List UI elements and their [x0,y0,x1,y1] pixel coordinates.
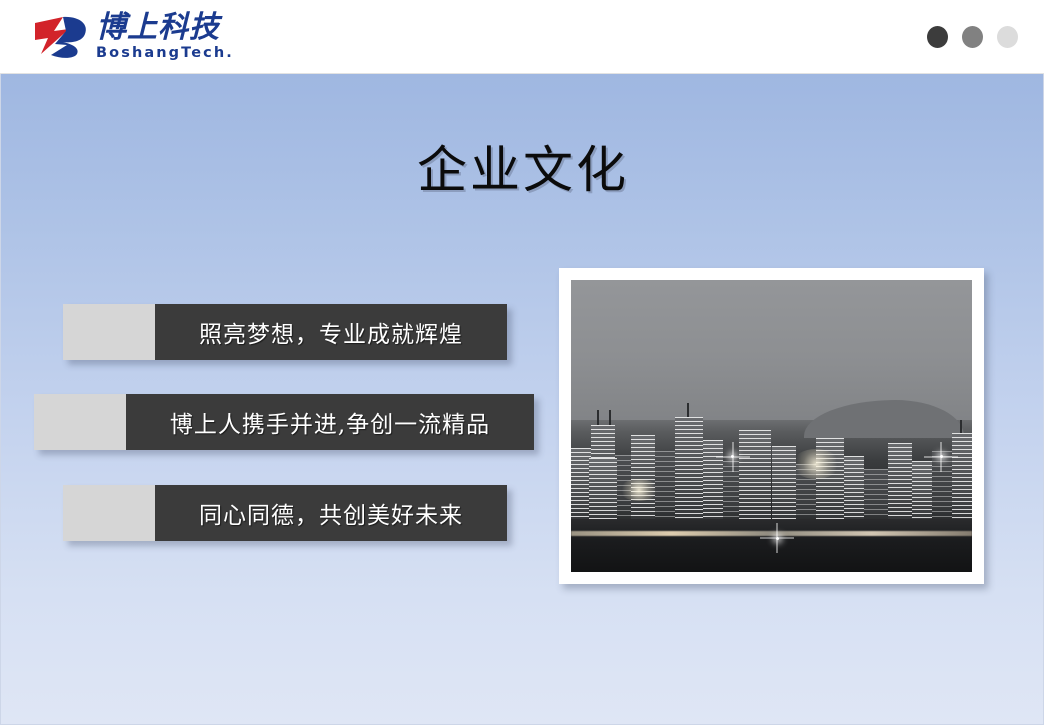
slogan-bar-2: 博上人携手并进,争创一流精品 [34,394,534,450]
slide-dot-2[interactable] [962,26,983,48]
photo-glow-1 [792,449,840,479]
slogan-body-3: 同心同德，共创美好未来 [155,485,507,541]
photo-skyline [571,397,972,525]
slogan-list: 照亮梦想，专业成就辉煌 博上人携手并进,争创一流精品 同心同德，共创美好未来 [1,74,561,725]
slogan-accent-block-2 [34,394,126,450]
slide-header: 博上科技 BoshangTech. [0,0,1044,74]
slogan-bar-3: 同心同德，共创美好未来 [63,485,507,541]
logo-chinese-name: 博上科技 [96,13,234,43]
slogan-text-1: 照亮梦想，专业成就辉煌 [199,315,463,349]
photo-frame [559,268,984,584]
slide-pagination-dots[interactable] [927,26,1018,48]
slide-body: 企业文化 照亮梦想，专业成就辉煌 博上人携手并进,争创一流精品 同心同德，共创美… [0,74,1044,725]
slide-dot-1[interactable] [927,26,948,48]
logo-wordmark: 博上科技 BoshangTech. [96,13,234,61]
slogan-body-1: 照亮梦想，专业成就辉煌 [155,304,507,360]
company-logo[interactable]: 博上科技 BoshangTech. [33,10,234,64]
slogan-accent-block-1 [63,304,155,360]
photo-road-lights [571,531,972,536]
presentation-slide: 博上科技 BoshangTech. 企业文化 照亮梦想，专业成就辉煌 [0,0,1044,725]
logo-english-name: BoshangTech. [96,46,234,61]
slogan-text-2: 博上人携手并进,争创一流精品 [170,405,490,439]
slide-dot-3[interactable] [997,26,1018,48]
slogan-text-3: 同心同德，共创美好未来 [199,496,463,530]
photo-ground [571,519,972,572]
city-night-skyline-photo [571,280,972,572]
photo-glow-2 [619,479,659,501]
slogan-bar-1: 照亮梦想，专业成就辉煌 [63,304,507,360]
slogan-body-2: 博上人携手并进,争创一流精品 [126,394,534,450]
photo-starburst-2 [776,537,779,540]
slogan-accent-block-3 [63,485,155,541]
boshang-b-mark-icon [33,14,91,60]
